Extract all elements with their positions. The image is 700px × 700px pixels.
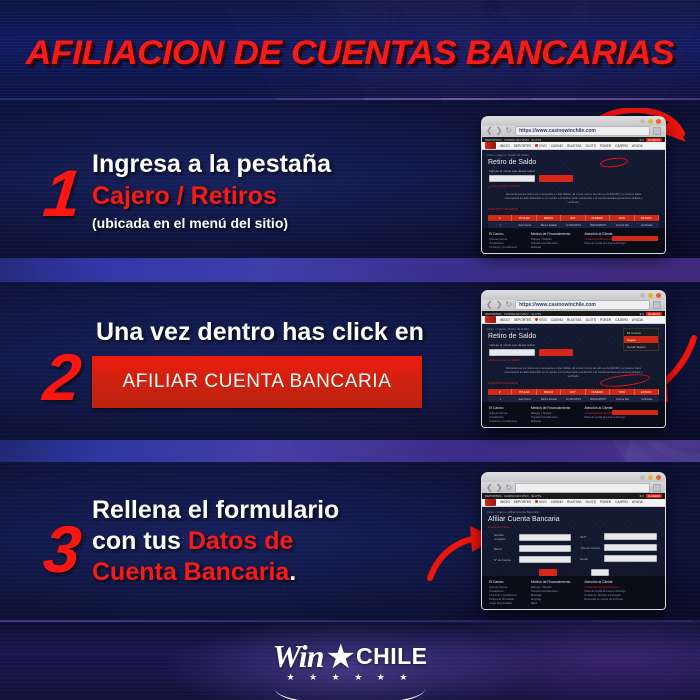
brand-logo: Win ★ CHILE (0, 638, 700, 675)
address-bar[interactable] (515, 483, 650, 493)
footer-link[interactable]: Política de Privacidad (489, 598, 517, 601)
notice-text: Recuerde que los retiros son procesados … (482, 188, 665, 205)
table-header-cell: BANCO (537, 389, 561, 395)
nombre-input[interactable] (519, 534, 571, 541)
footer-heading: El Casino (489, 580, 517, 584)
footer-email[interactable]: contacto@casinowinchile.com (584, 586, 625, 589)
topbar-account-button[interactable]: CAJERO (646, 138, 662, 142)
footer-link[interactable]: Multicaja (531, 420, 571, 423)
table-header-cell: # (488, 389, 512, 395)
window-maximize-icon[interactable] (648, 119, 653, 124)
footer-column: Atención al Cliente contacto@casinowinch… (584, 580, 625, 605)
url-text: https://www.casinowinchile.com (519, 302, 596, 308)
reload-icon[interactable]: ↻ (505, 127, 512, 135)
window-minimize-icon[interactable] (640, 119, 645, 124)
logo-word-win: Win (273, 638, 324, 675)
footer-link[interactable]: Servipag (531, 598, 571, 601)
form-column-left: Nombre completo Banco N° de Cuenta (494, 533, 571, 563)
topbar-account-button[interactable]: CAJERO (646, 494, 662, 498)
rut-input[interactable] (604, 533, 658, 540)
topbar-balance: $ 0 (640, 138, 644, 142)
window-close-icon[interactable] (656, 293, 661, 298)
footer-link[interactable]: Quienes Somos (489, 238, 517, 241)
step-number-1: 1 (41, 160, 85, 226)
field-label: Email (581, 557, 601, 561)
form-field-row: N° de Cuenta (494, 556, 571, 563)
browser-toolbar: ❮ ❯ ↻ (482, 482, 665, 493)
footer-link[interactable]: Mach (531, 602, 571, 605)
nav-item[interactable]: INICIO (500, 144, 510, 148)
browser-screenshot-step-1[interactable]: ❮ ❯ ↻ https://www.casinowinchile.com DEP… (481, 116, 666, 254)
retirar-saldo-button[interactable] (539, 175, 573, 182)
nav-item-live[interactable]: VIVO (535, 500, 547, 504)
footer-link[interactable]: Transferencia Bancaria (531, 590, 571, 593)
footer-brand-zone: Win ★ CHILE ★ ★ ★ ★ ★ ★ (0, 622, 700, 700)
table-header-cell: BANCO (537, 215, 561, 221)
footer-column: El Casino Quienes Somos Contáctanos Térm… (489, 406, 517, 423)
nav-item[interactable]: DEPORTES (514, 318, 531, 322)
address-bar[interactable]: https://www.casinowinchile.com (515, 126, 650, 136)
form-field-row: Nombre completo (494, 533, 571, 541)
footer-note: Mesa de ayuda de lunes a domingo (584, 242, 625, 245)
footer-link[interactable]: Contáctanos (489, 242, 517, 245)
footer-heading: Atención al Cliente (584, 580, 625, 584)
topbar-account-button[interactable]: CAJERO (646, 312, 662, 316)
dropdown-item[interactable]: Mi Cuenta (624, 329, 658, 336)
step-3-line-3: Cuenta Bancaria. (92, 558, 339, 586)
footer-note: Mesa de ayuda de lunes a domingo (584, 590, 625, 593)
breadcrumb: Inicio › Cajero › Retiro de Saldo (482, 150, 665, 157)
amount-input[interactable] (489, 349, 535, 356)
forward-arrow-icon[interactable]: ❯ (496, 484, 503, 492)
table-header-cell: NUMERO (586, 215, 610, 221)
nav-item[interactable]: DEPORTES (514, 500, 531, 504)
browser-screenshot-step-3[interactable]: ❮ ❯ ↻ DEPORTES · CASINO EN VIVO · SLOTS … (481, 472, 666, 610)
panel-separator-band (0, 258, 700, 282)
reload-icon[interactable]: ↻ (505, 301, 512, 309)
nav-item[interactable]: INICIO (500, 500, 510, 504)
step-3-line-2: con tus Datos de (92, 527, 339, 555)
page-heading: Retiro de Saldo (482, 157, 665, 166)
nav-item[interactable]: DEPORTES (514, 144, 531, 148)
browser-titlebar (482, 473, 665, 482)
field-label: Tipo de Cuenta (581, 546, 601, 550)
browser-menu-icon[interactable] (653, 127, 661, 135)
browser-titlebar (482, 117, 665, 126)
field-label: Nombre completo (494, 533, 516, 541)
footer-link[interactable]: Webpay / Tarjetas (531, 238, 571, 241)
page-title: AFILIACION DE CUENTAS BANCARIAS (0, 34, 700, 73)
step-3-line-3-tail: . (289, 558, 296, 586)
footer-column: El Casino Quienes Somos Contáctanos Térm… (489, 580, 517, 605)
reload-icon[interactable]: ↻ (505, 484, 512, 492)
retirar-saldo-button[interactable] (539, 349, 573, 356)
nav-item[interactable]: SLOTS (585, 500, 595, 504)
field-label: N° de Cuenta (494, 558, 516, 562)
nav-item-cajero[interactable]: CAJERO (615, 500, 628, 504)
footer-heading: Medios de Financiamiento (531, 232, 571, 236)
footer-link[interactable]: Transferencia Bancaria (531, 416, 571, 419)
step-number-3: 3 (41, 516, 85, 582)
table-header-row: # TITULAR BANCO RUT NUMERO TIPO ESTADO (488, 389, 659, 395)
window-close-icon[interactable] (656, 475, 661, 480)
nav-item[interactable]: CASINO (551, 144, 563, 148)
window-maximize-icon[interactable] (648, 293, 653, 298)
step-number-2: 2 (41, 344, 85, 410)
table-header-cell: NUMERO (586, 389, 610, 395)
page-body: Inicio › Cajero › Retiro de Saldo Retiro… (482, 150, 665, 253)
nav-item-live[interactable]: VIVO (535, 318, 547, 322)
step-3-text-block: Rellena el formulario con tus Datos de C… (92, 496, 339, 586)
nav-item[interactable]: POKER (600, 500, 611, 504)
table-header-cell: ESTADO (635, 389, 659, 395)
cancelar-button[interactable] (591, 569, 609, 576)
panel-separator-band (0, 440, 700, 464)
site-logo-icon (485, 499, 496, 506)
footer-link[interactable]: Términos y Condiciones (489, 420, 517, 423)
forward-arrow-icon[interactable]: ❯ (496, 127, 503, 135)
topbar-left-text: DEPORTES · CASINO EN VIVO · SLOTS (485, 494, 541, 498)
step-2-text-block: Una vez dentro has click en (96, 318, 424, 346)
footer-column: El Casino Quienes Somos Contáctanos Térm… (489, 232, 517, 249)
afiliar-cuenta-bancaria-button[interactable] (612, 410, 658, 415)
banco-select[interactable] (519, 545, 571, 552)
table-header-cell: ESTADO (635, 215, 659, 221)
site-logo-icon (485, 316, 496, 323)
step-3-line-2-lead: con tus (92, 527, 188, 555)
footer-link[interactable]: Juego Responsable (489, 602, 517, 605)
step-3-line-3-lead: Cuenta Bancaria (92, 558, 289, 586)
dropdown-item-cajero[interactable]: Cajero (624, 336, 658, 343)
back-arrow-icon[interactable]: ❮ (486, 484, 493, 492)
window-minimize-icon[interactable] (640, 293, 645, 298)
footer-note: Horario de atención continuado (584, 594, 625, 597)
footer-note: Responde en menos de 24 horas (584, 598, 625, 601)
nav-item[interactable]: AYUDA (632, 500, 643, 504)
nav-item-cajero[interactable]: CAJERO (615, 318, 628, 322)
footer-link[interactable]: Contáctanos (489, 590, 517, 593)
nav-item[interactable]: POKER (600, 144, 611, 148)
table-header-cell: TITULAR (512, 215, 536, 221)
form-grid: Nombre completo Banco N° de Cuenta RUT (482, 529, 665, 563)
nav-item[interactable]: RULETAS (567, 318, 581, 322)
window-minimize-icon[interactable] (640, 475, 645, 480)
table-header-cell: TIPO (610, 389, 634, 395)
footer-link[interactable]: Términos y Condiciones (489, 594, 517, 597)
form-field-row: Banco (494, 545, 571, 552)
footer-link[interactable]: Quienes Somos (489, 586, 517, 589)
topbar-balance: $ 0 (640, 494, 644, 498)
back-arrow-icon[interactable]: ❮ (486, 301, 493, 309)
browser-toolbar: ❮ ❯ ↻ https://www.casinowinchile.com (482, 300, 665, 311)
step-3-line-1: Rellena el formulario (92, 496, 339, 524)
amount-form-row (482, 173, 665, 182)
afiliar-cuenta-bancaria-button[interactable] (612, 236, 658, 241)
nav-item-cajero[interactable]: CAJERO (615, 144, 628, 148)
numero-cuenta-input[interactable] (519, 556, 571, 563)
table-header-cell: # (488, 215, 512, 221)
step-1-line-2: Cajero / Retiros (92, 182, 331, 210)
footer-link[interactable]: Webpay / Tarjetas (531, 586, 571, 589)
browser-menu-icon[interactable] (653, 301, 661, 309)
page-body: Inicio › Cajero › Afiliar Cuenta Bancari… (482, 507, 665, 609)
email-input[interactable] (604, 555, 658, 562)
amount-input[interactable] (489, 175, 535, 182)
window-close-icon[interactable] (656, 119, 661, 124)
nav-item[interactable]: SLOTS (585, 144, 595, 148)
footer-heading: El Casino (489, 406, 517, 410)
forward-arrow-icon[interactable]: ❯ (496, 301, 503, 309)
site-navigation: INICIO DEPORTES VIVO CASINO RULETAS SLOT… (482, 316, 665, 324)
table-header-cell: TITULAR (512, 389, 536, 395)
footer-column: Medios de Financiamiento Webpay / Tarjet… (531, 406, 571, 423)
step-1-line-1: Ingresa a la pestaña (92, 150, 331, 178)
section-label: CUENTAS AFILIADAS (482, 205, 665, 211)
footer-heading: El Casino (489, 232, 517, 236)
nav-item[interactable]: RULETAS (567, 144, 581, 148)
site-logo-icon (485, 142, 496, 149)
nav-item[interactable]: SLOTS (585, 318, 595, 322)
browser-toolbar: ❮ ❯ ↻ https://www.casinowinchile.com (482, 126, 665, 137)
step-1-text-block: Ingresa a la pestaña Cajero / Retiros (u… (92, 150, 331, 232)
nav-item[interactable]: CASINO (551, 500, 563, 504)
afiliar-submit-button[interactable] (539, 569, 557, 576)
logo-word-chile: CHILE (356, 643, 428, 670)
nav-item[interactable]: AYUDA (632, 144, 643, 148)
form-actions (482, 563, 665, 576)
address-bar[interactable]: https://www.casinowinchile.com (515, 300, 650, 310)
url-text: https://www.casinowinchile.com (519, 128, 596, 134)
footer-link[interactable]: Términos y Condiciones (489, 246, 517, 249)
footer-link[interactable]: Quienes Somos (489, 412, 517, 415)
dropdown-item[interactable]: Cerrar Sesión (624, 343, 658, 350)
nav-item[interactable]: POKER (600, 318, 611, 322)
browser-screenshot-step-2[interactable]: ❮ ❯ ↻ https://www.casinowinchile.com DEP… (481, 290, 666, 428)
nav-item[interactable]: AYUDA (632, 318, 643, 322)
table-header-cell: RUT (561, 215, 585, 221)
form-column-right: RUT Tipo de Cuenta Email (581, 533, 658, 563)
footer-note: Mesa de ayuda de lunes a domingo (584, 416, 625, 419)
footer-link[interactable]: Transferencia Bancaria (531, 242, 571, 245)
nav-item-live[interactable]: VIVO (535, 144, 547, 148)
amount-field-label: Ingrese el monto que desea retirar (482, 166, 665, 173)
title-banner: AFILIACION DE CUENTAS BANCARIAS (0, 0, 700, 98)
page-heading: Afiliar Cuenta Bancaria (482, 514, 665, 523)
nav-item[interactable]: RULETAS (567, 500, 581, 504)
field-label: Banco (494, 547, 516, 551)
field-label: RUT (581, 535, 601, 539)
browser-titlebar (482, 291, 665, 300)
topbar-left-text: DEPORTES · CASINO EN VIVO · SLOTS (485, 312, 541, 316)
footer-column: Medios de Financiamiento Webpay / Tarjet… (531, 580, 571, 605)
footer-link[interactable]: Multicaja (531, 246, 571, 249)
site-footer: El Casino Quienes Somos Contáctanos Térm… (482, 576, 665, 609)
form-field-row: Tipo de Cuenta (581, 544, 658, 551)
footer-heading: Medios de Financiamiento (531, 406, 571, 410)
form-field-row: RUT (581, 533, 658, 540)
step-1-line-3: (ubicada en el menú del sitio) (92, 216, 331, 232)
table-header-cell: TIPO (610, 215, 634, 221)
footer-link[interactable]: Multicaja (531, 594, 571, 597)
table-header-cell: RUT (561, 389, 585, 395)
form-field-row: Email (581, 555, 658, 562)
topbar-left-text: DEPORTES · CASINO EN VIVO · SLOTS (485, 138, 541, 142)
window-maximize-icon[interactable] (648, 475, 653, 480)
nav-item[interactable]: CASINO (551, 318, 563, 322)
breadcrumb: Inicio › Cajero › Afiliar Cuenta Bancari… (482, 507, 665, 514)
account-dropdown-menu[interactable]: Mi Cuenta Cajero Cerrar Sesión (623, 328, 659, 351)
nav-item[interactable]: INICIO (500, 318, 510, 322)
logo-arc-stars: ★ ★ ★ ★ ★ ★ (0, 672, 700, 683)
step-3-line-2-tail: Datos de (188, 527, 294, 555)
site-navigation: INICIO DEPORTES VIVO CASINO RULETAS SLOT… (482, 142, 665, 150)
footer-column: Medios de Financiamiento Webpay / Tarjet… (531, 232, 571, 249)
site-navigation: INICIO DEPORTES VIVO CASINO RULETAS SLOT… (482, 499, 665, 507)
footer-heading: Medios de Financiamiento (531, 580, 571, 584)
star-icon: ★ (325, 640, 355, 674)
footer-link[interactable]: Contáctanos (489, 416, 517, 419)
back-arrow-icon[interactable]: ❮ (486, 127, 493, 135)
table-header-row: # TITULAR BANCO RUT NUMERO TIPO ESTADO (488, 215, 659, 221)
tipo-cuenta-select[interactable] (604, 544, 658, 551)
step-2-line-1: Una vez dentro has click en (96, 318, 424, 346)
footer-link[interactable]: Webpay / Tarjetas (531, 412, 571, 415)
topbar-balance: $ 0 (640, 312, 644, 316)
infographic-canvas: A A ♠ AFILIACION DE CUENTAS BANCARIAS 1 … (0, 0, 700, 700)
browser-menu-icon[interactable] (653, 484, 661, 492)
afiliar-cuenta-bancaria-button[interactable]: AFILIAR CUENTA BANCARIA (92, 356, 422, 408)
